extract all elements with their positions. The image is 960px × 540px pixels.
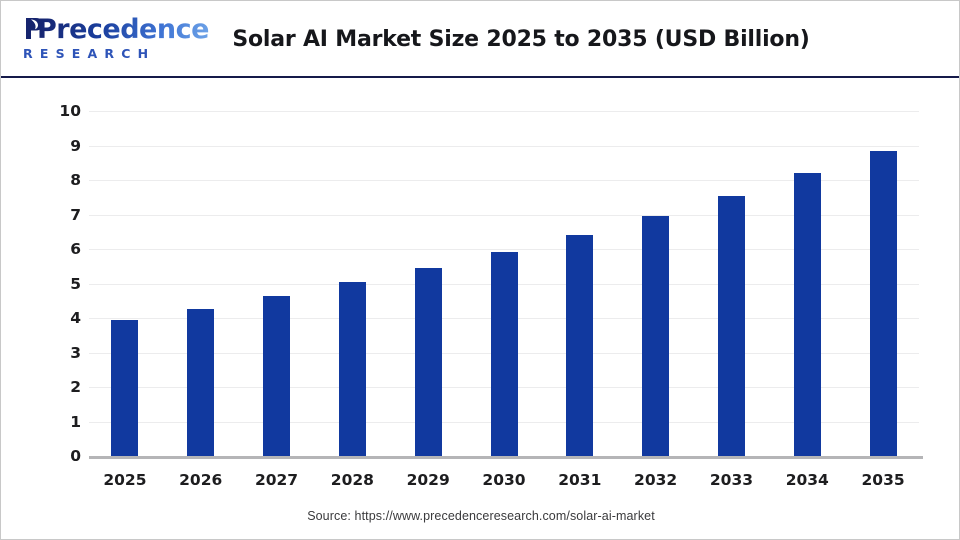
- x-axis-labels: 2025202620272028202920302031203220332034…: [89, 463, 923, 503]
- y-axis-tick-label: 6: [37, 241, 81, 257]
- y-axis-ticks: 012345678910: [29, 78, 81, 540]
- y-axis-tick-label: 9: [37, 138, 81, 154]
- x-axis-label-2031: 2031: [540, 471, 620, 489]
- x-axis-label-2030: 2030: [464, 471, 544, 489]
- x-axis-label-2035: 2035: [843, 471, 923, 489]
- bar-2029: [415, 268, 442, 456]
- bar-2032: [642, 216, 669, 456]
- bar-2026: [187, 309, 214, 456]
- y-axis-tick-label: 2: [37, 379, 81, 395]
- bar-2025: [111, 320, 138, 456]
- bar-2031: [566, 235, 593, 456]
- y-axis-tick-label: 4: [37, 310, 81, 326]
- bar-2033: [718, 196, 745, 456]
- x-axis-label-2033: 2033: [691, 471, 771, 489]
- bar-2034: [794, 173, 821, 456]
- x-axis-label-2032: 2032: [616, 471, 696, 489]
- x-axis-label-2029: 2029: [388, 471, 468, 489]
- source-caption: Source: https://www.precedenceresearch.c…: [1, 509, 960, 523]
- chart-header: Precedence RESEARCH Solar AI Market Size…: [1, 1, 960, 78]
- x-axis-label-2028: 2028: [312, 471, 392, 489]
- x-axis-label-2025: 2025: [85, 471, 165, 489]
- x-axis-label-2026: 2026: [161, 471, 241, 489]
- chart-page: Precedence RESEARCH Solar AI Market Size…: [0, 0, 960, 540]
- y-axis-tick-label: 8: [37, 172, 81, 188]
- y-axis-tick-label: 10: [37, 103, 81, 119]
- bar-2035: [870, 151, 897, 456]
- y-axis-tick-label: 7: [37, 207, 81, 223]
- y-axis-tick-label: 5: [37, 276, 81, 292]
- bar-2027: [263, 296, 290, 456]
- chart-plot-area: 012345678910 202520262027202820292030203…: [1, 78, 960, 540]
- y-axis-tick-label: 1: [37, 414, 81, 430]
- y-axis-tick-label: 0: [37, 448, 81, 464]
- bar-2028: [339, 282, 366, 456]
- y-axis-tick-label: 3: [37, 345, 81, 361]
- bar-2030: [491, 252, 518, 456]
- x-axis-label-2034: 2034: [767, 471, 847, 489]
- chart-title: Solar AI Market Size 2025 to 2035 (USD B…: [1, 27, 960, 52]
- x-axis-label-2027: 2027: [237, 471, 317, 489]
